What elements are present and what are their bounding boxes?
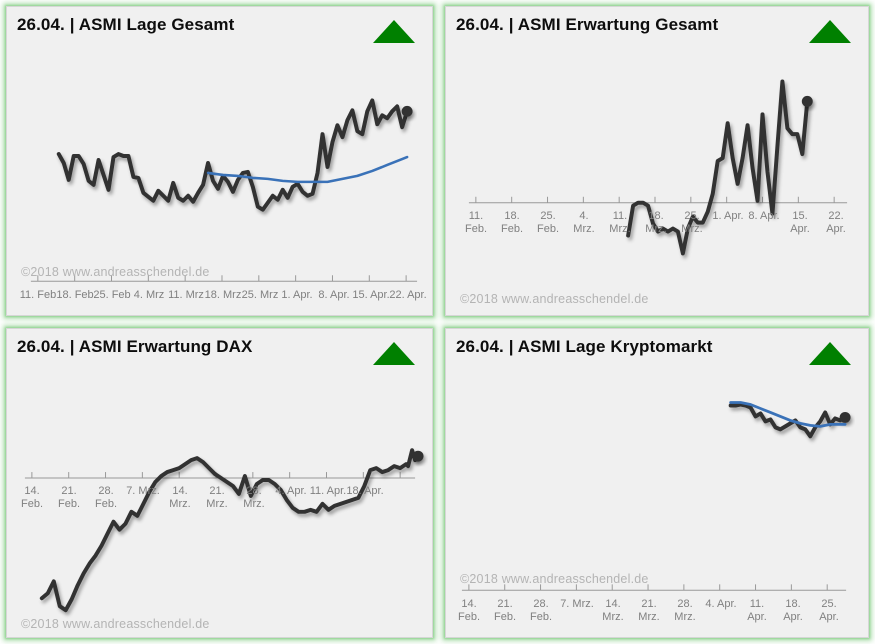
chart-panel-asmi-erwartung-dax[interactable]: 26.04. | ASMI Erwartung DAX — [6, 328, 433, 638]
panel-cell-1: 26.04. | ASMI Lage Gesamt — [0, 0, 439, 322]
axis-tick-label: 21.Feb. — [494, 598, 516, 624]
series-line-main-1 — [59, 100, 407, 209]
endpoint-dot-2 — [802, 96, 813, 107]
axis-tick-label: 22. Apr. — [389, 289, 426, 302]
axis-tick-label: 22.Apr. — [826, 210, 846, 236]
chart-panel-asmi-lage-kryptomarkt[interactable]: 26.04. | ASMI Lage Kryptomarkt — [445, 328, 869, 638]
axis-tick-label: 7. Mrz. — [126, 485, 160, 498]
chart-grid: 26.04. | ASMI Lage Gesamt — [0, 0, 875, 644]
axis-tick-label: 11.Apr. — [747, 598, 767, 624]
panel-cell-2: 26.04. | ASMI Erwartung Gesamt — [439, 0, 875, 322]
axis-tick-label: 18. Apr. — [346, 485, 383, 498]
axis-tick-label: 4.Mrz. — [573, 210, 594, 236]
axis-tick-label: 21.Mrz. — [638, 598, 659, 624]
axis-tick-label: 25.Mrz. — [681, 210, 702, 236]
axis-tick-label: 25.Apr. — [819, 598, 839, 624]
panel-cell-3: 26.04. | ASMI Erwartung DAX — [0, 322, 439, 644]
axis-tick-label: 4. Mrz — [134, 289, 165, 302]
copyright-text: ©2018 www.andreasschendel.de — [21, 265, 210, 279]
axis-tick-label: 4. Apr. — [705, 598, 736, 611]
axis-tick-label: 28.Mrz. — [243, 485, 264, 511]
axis-tick-label: 1. Apr. — [281, 289, 312, 302]
chart-plot-3 — [7, 329, 432, 637]
chart-plot-4 — [446, 329, 868, 637]
axis-tick-label: 18. Feb — [56, 289, 93, 302]
chart-panel-asmi-lage-gesamt[interactable]: 26.04. | ASMI Lage Gesamt — [6, 6, 433, 316]
copyright-text: ©2018 www.andreasschendel.de — [460, 292, 649, 306]
axis-tick-label: 14.Mrz. — [602, 598, 623, 624]
series-line-main-3 — [42, 450, 418, 610]
axis-tick-label: 11.Mrz. — [609, 210, 630, 236]
axis-tick-label: 1. Apr. — [712, 210, 743, 223]
axis-tick-label: 21.Feb. — [58, 485, 80, 511]
axis-tick-label: 18.Feb. — [501, 210, 523, 236]
axis-tick-label: 18.Apr. — [783, 598, 803, 624]
axis-tick-label: 14.Mrz. — [169, 485, 190, 511]
axis-tick-label: 11. Mrz — [168, 289, 204, 302]
axis-tick-label: 25. Mrz — [242, 289, 279, 302]
axis-tick-label: 18. Mrz — [205, 289, 242, 302]
endpoint-dot-3 — [413, 451, 424, 462]
axis-tick-label: 8. Apr. — [318, 289, 349, 302]
copyright-text: ©2018 www.andreasschendel.de — [21, 617, 210, 631]
axis-tick-label: 11.Feb. — [465, 210, 487, 236]
axis-tick-label: 11. Feb — [20, 289, 57, 302]
axis-tick-label: 18.Mrz. — [645, 210, 666, 236]
axis-tick-label: 14.Feb. — [458, 598, 480, 624]
axis-tick-label: 28.Feb. — [530, 598, 552, 624]
copyright-text: ©2018 www.andreasschendel.de — [460, 572, 649, 586]
panel-cell-4: 26.04. | ASMI Lage Kryptomarkt — [439, 322, 875, 644]
chart-panel-asmi-erwartung-gesamt[interactable]: 26.04. | ASMI Erwartung Gesamt — [445, 6, 869, 316]
axis-tick-label: 4. Apr. — [275, 485, 306, 498]
axis-tick-label: 7. Mrz. — [560, 598, 594, 611]
endpoint-dot-1 — [402, 106, 413, 117]
axis-tick-label: 15.Apr. — [790, 210, 810, 236]
axis-tick-label: 11. Apr. — [310, 485, 347, 498]
axis-tick-label: 14.Feb. — [21, 485, 43, 511]
axis-tick-label: 25.Feb. — [537, 210, 559, 236]
chart-plot-2 — [446, 7, 868, 315]
axis-tick-label: 28.Mrz. — [674, 598, 695, 624]
x-axis-line-2 — [469, 197, 847, 203]
axis-tick-label: 15. Apr. — [352, 289, 389, 302]
axis-tick-label: 28.Feb. — [95, 485, 117, 511]
axis-tick-label: 21.Mrz. — [206, 485, 227, 511]
axis-tick-label: 8. Apr. — [748, 210, 779, 223]
axis-tick-label: 25. Feb — [93, 289, 130, 302]
endpoint-dot-4 — [840, 412, 851, 423]
